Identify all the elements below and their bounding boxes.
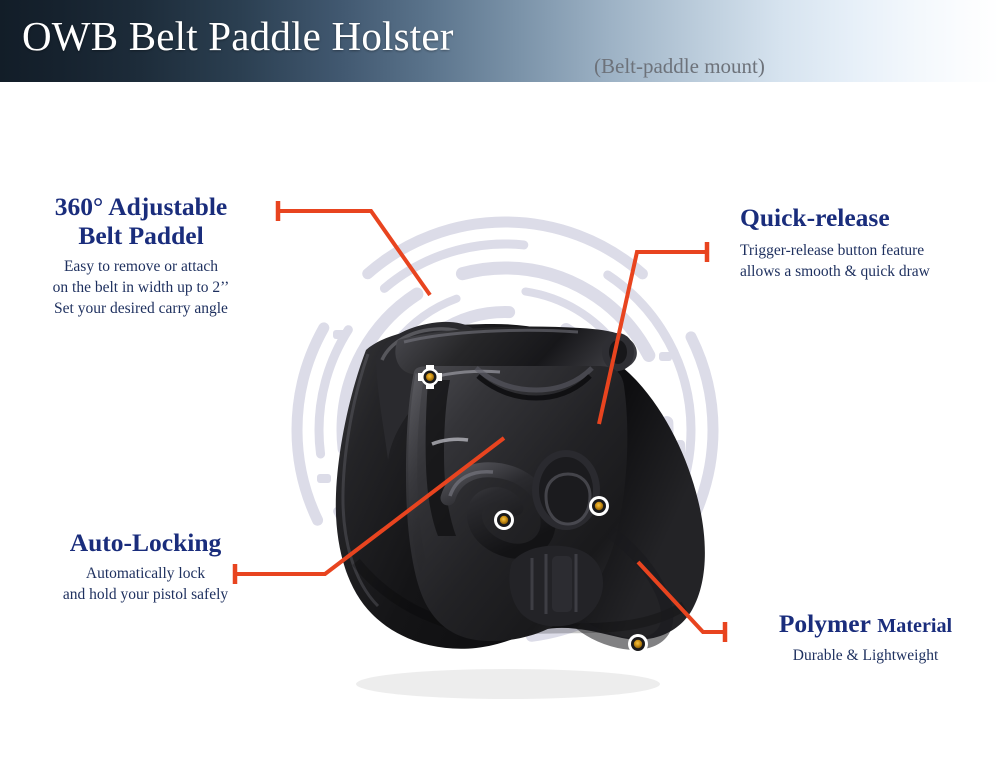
callout-description-line: and hold your pistol safely <box>18 584 273 605</box>
callout-polymer-material: Polymer Material Durable & Lightweight <box>738 610 993 666</box>
header-banner: OWB Belt Paddle Holster (Belt-paddle mou… <box>0 0 1000 82</box>
callout-description-line: Trigger-release button feature <box>740 240 990 261</box>
callout-auto-locking: Auto-Locking Automatically lock and hold… <box>18 529 273 605</box>
page-title: OWB Belt Paddle Holster <box>22 12 454 60</box>
page-subtitle: (Belt-paddle mount) <box>594 54 765 78</box>
screw-marker-auto-locking <box>494 510 514 530</box>
product-stage: 360° Adjustable Belt Paddel Easy to remo… <box>0 82 1000 769</box>
callout-title-line-2: Material <box>877 615 952 637</box>
screw-marker-polymer <box>628 634 648 654</box>
callout-description-line: Easy to remove or attach <box>6 256 276 277</box>
screw-marker-quick-release <box>589 496 609 516</box>
callout-description-line: on the belt in width up to 2’’ <box>6 277 276 298</box>
callout-description: Automatically lock and hold your pistol … <box>18 563 273 605</box>
callout-title-line-1: Quick-release <box>740 204 990 233</box>
callout-title: Polymer Material <box>738 610 993 639</box>
callout-title: Quick-release <box>740 204 990 233</box>
callout-title-line-1: 360° Adjustable <box>6 193 276 222</box>
callout-description: Durable & Lightweight <box>738 645 993 666</box>
callout-description-line: allows a smooth & quick draw <box>740 261 990 282</box>
callout-description-line: Durable & Lightweight <box>738 645 993 666</box>
callout-title-line-2: Belt Paddel <box>6 222 276 251</box>
callout-title: 360° Adjustable Belt Paddel <box>6 193 276 251</box>
callout-description: Trigger-release button feature allows a … <box>740 240 990 282</box>
callout-360-adjustable-belt-paddel: 360° Adjustable Belt Paddel Easy to remo… <box>6 193 276 319</box>
callout-description-line: Automatically lock <box>18 563 273 584</box>
callout-title-line-1: Polymer <box>779 609 871 638</box>
callout-title-line-1: Auto-Locking <box>18 529 273 558</box>
callout-quick-release: Quick-release Trigger-release button fea… <box>740 204 990 282</box>
product-image-holster <box>280 232 730 702</box>
callout-title: Auto-Locking <box>18 529 273 558</box>
callout-description: Easy to remove or attach on the belt in … <box>6 256 276 319</box>
infographic-page: OWB Belt Paddle Holster (Belt-paddle mou… <box>0 0 1000 769</box>
callout-description-line: Set your desired carry angle <box>6 298 276 319</box>
